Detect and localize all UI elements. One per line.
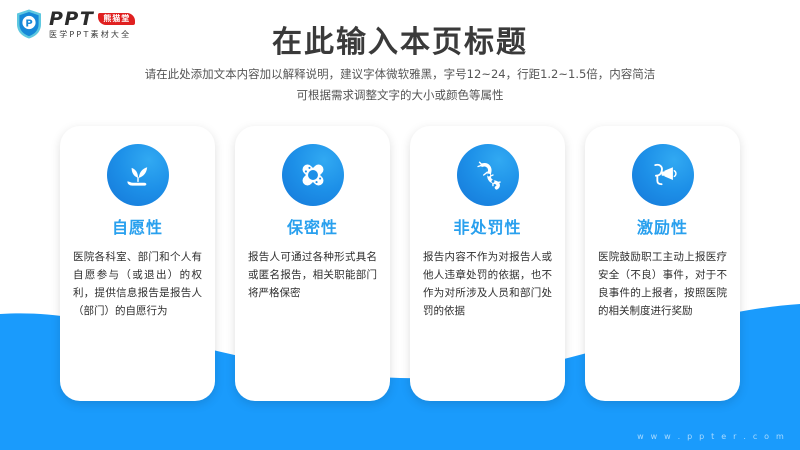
feature-card-confidential[interactable]: 保密性 报告人可通过各种形式具名或匿名报告，相关职能部门将严格保密 xyxy=(235,126,390,401)
bacteria-glyph xyxy=(471,158,505,192)
feature-card-incentive[interactable]: 激励性 医院鼓励职工主动上报医疗安全（不良）事件，对于不良事件的上报者，按照医院… xyxy=(585,126,740,401)
megaphone-speaker-glyph xyxy=(646,158,680,192)
logo-text-block: PPT 熊猫堂 医学PPT素材大全 xyxy=(49,10,135,39)
logo-primary-row: PPT 熊猫堂 xyxy=(49,10,135,29)
brand-logo: P PPT 熊猫堂 医学PPT素材大全 xyxy=(14,8,135,40)
card-title: 自愿性 xyxy=(112,220,163,236)
logo-badge: 熊猫堂 xyxy=(98,13,135,25)
card-title: 非处罚性 xyxy=(453,220,521,236)
card-body: 医院鼓励职工主动上报医疗安全（不良）事件，对于不良事件的上报者，按照医院的相关制… xyxy=(598,248,727,320)
site-watermark: w w w . p p t e r . c o m xyxy=(637,432,786,441)
bandage-cross-glyph xyxy=(296,158,330,192)
card-body: 报告内容不作为对报告人或他人违章处罚的依据，也不作为对所涉及人员和部门处罚的依据 xyxy=(423,248,552,320)
feature-card-row: 自愿性 医院各科室、部门和个人有自愿参与（或退出）的权利，提供信息报告是报告人（… xyxy=(60,126,740,401)
bandage-cross-icon xyxy=(282,144,344,206)
card-body: 报告人可通过各种形式具名或匿名报告，相关职能部门将严格保密 xyxy=(248,248,377,302)
slide-canvas: P PPT 熊猫堂 医学PPT素材大全 在此输入本页标题 请在此处添加文本内容加… xyxy=(0,0,800,450)
card-body: 医院各科室、部门和个人有自愿参与（或退出）的权利，提供信息报告是报告人（部门）的… xyxy=(73,248,202,320)
subtitle-line-2: 可根据需求调整文字的大小或颜色等属性 xyxy=(0,85,800,106)
svg-text:P: P xyxy=(25,19,32,30)
logo-wordmark: PPT xyxy=(49,10,94,29)
hand-plant-icon xyxy=(107,144,169,206)
feature-card-voluntary[interactable]: 自愿性 医院各科室、部门和个人有自愿参与（或退出）的权利，提供信息报告是报告人（… xyxy=(60,126,215,401)
megaphone-speaker-icon xyxy=(632,144,694,206)
page-subtitle: 请在此处添加文本内容加以解释说明，建议字体微软雅黑，字号12~24，行距1.2~… xyxy=(0,64,800,107)
shield-icon: P xyxy=(14,8,44,40)
card-title: 激励性 xyxy=(637,220,688,236)
feature-card-nonpunitive[interactable]: 非处罚性 报告内容不作为对报告人或他人违章处罚的依据，也不作为对所涉及人员和部门… xyxy=(410,126,565,401)
bacteria-icon xyxy=(457,144,519,206)
card-title: 保密性 xyxy=(287,220,338,236)
subtitle-line-1: 请在此处添加文本内容加以解释说明，建议字体微软雅黑，字号12~24，行距1.2~… xyxy=(0,64,800,85)
hand-plant-glyph xyxy=(121,158,155,192)
logo-tagline: 医学PPT素材大全 xyxy=(49,31,135,39)
